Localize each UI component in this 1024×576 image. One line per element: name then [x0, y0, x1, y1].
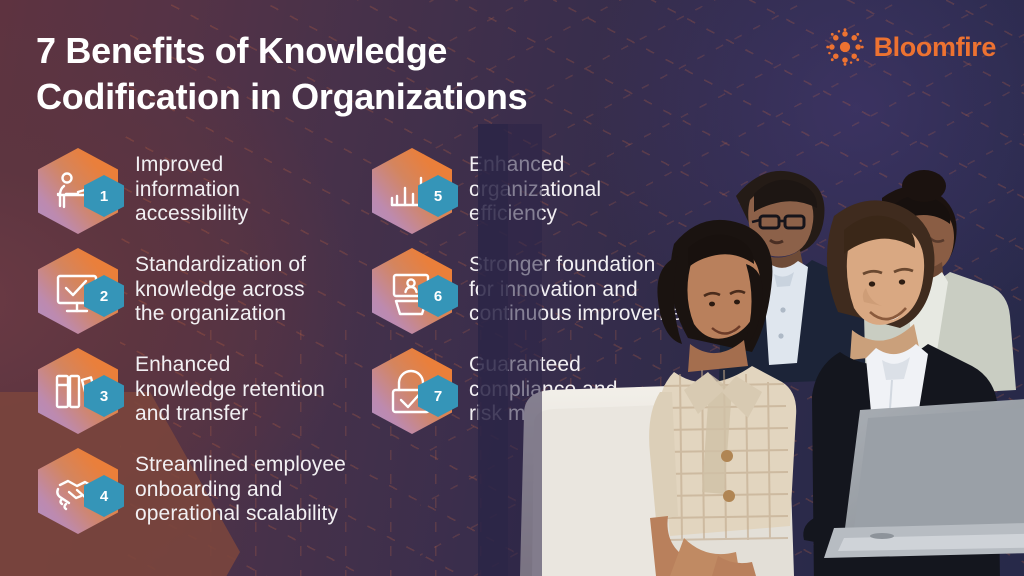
benefit-hexagon-3: 3 — [34, 345, 126, 437]
brand-name: Bloomfire — [874, 32, 996, 63]
benefit-hexagon-7: 7 — [368, 345, 460, 437]
benefit-text: Standardization of knowledge across the … — [135, 243, 306, 327]
team-photo — [478, 124, 1024, 576]
benefit-hexagon-4: 4 — [34, 445, 126, 537]
benefit-hexagon-5: 5 — [368, 145, 460, 237]
benefit-text: Enhanced knowledge retention and transfe… — [135, 343, 325, 427]
benefit-hexagon-6: 6 — [368, 245, 460, 337]
benefit-item-4[interactable]: 4 Streamlined employee onboarding and op… — [34, 443, 346, 543]
benefit-hexagon-1: 1 — [34, 145, 126, 237]
bloomfire-logo[interactable]: Bloomfire — [826, 28, 996, 66]
infographic-canvas: 7 Benefits of Knowledge Codification in … — [0, 0, 1024, 576]
starburst-dots-icon — [826, 28, 864, 66]
benefit-item-1[interactable]: 1 Improved information accessibility — [34, 143, 346, 243]
benefit-item-3[interactable]: 3 Enhanced knowledge retention and trans… — [34, 343, 346, 443]
benefit-text: Streamlined employee onboarding and oper… — [135, 443, 346, 527]
benefit-text: Improved information accessibility — [135, 143, 248, 227]
benefit-hexagon-2: 2 — [34, 245, 126, 337]
benefits-left-column: 1 Improved information accessibility 2 S… — [34, 143, 346, 543]
page-title: 7 Benefits of Knowledge Codification in … — [36, 28, 716, 120]
benefit-item-2[interactable]: 2 Standardization of knowledge across th… — [34, 243, 346, 343]
